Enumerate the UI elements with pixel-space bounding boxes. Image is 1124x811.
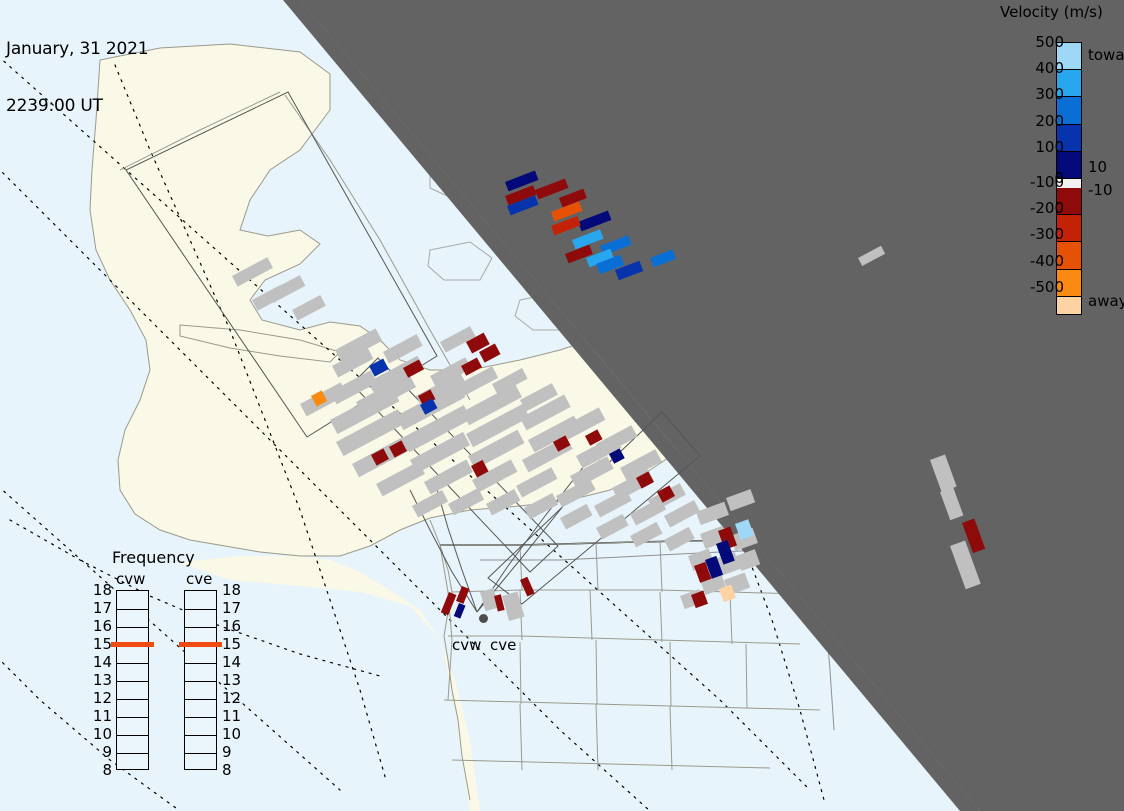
velocity-legend: Velocity (m/s) 5004003002001000-100-200-… [986, 0, 1124, 340]
frequency-cell-divider [185, 699, 216, 700]
frequency-bar-cvw[interactable] [116, 590, 149, 770]
frequency-tick-cve-16: 16 [222, 617, 241, 635]
velocity-tick--300: -300 [1030, 225, 1064, 243]
frequency-cell-divider [185, 735, 216, 736]
frequency-cell-divider [117, 627, 148, 628]
frequency-tick-cve-9: 9 [222, 743, 232, 761]
frequency-cell-divider [117, 717, 148, 718]
velocity-legend-title: Velocity (m/s) [1000, 3, 1103, 21]
frequency-tick-cvw-18: 18 [93, 581, 112, 599]
frequency-tick-cvw-15: 15 [93, 635, 112, 653]
frequency-tick-cvw-9: 9 [102, 743, 112, 761]
frequency-tick-cve-11: 11 [222, 707, 241, 725]
frequency-tick-cve-13: 13 [222, 671, 241, 689]
velocity-label-zero-upper: 10 [1088, 158, 1107, 176]
timestamp-time: 2239:00 UT [6, 97, 148, 116]
station-label-cvw: cvw [452, 636, 481, 654]
velocity-tick--400: -400 [1030, 252, 1064, 270]
frequency-cell-divider [117, 699, 148, 700]
frequency-tick-cvw-14: 14 [93, 653, 112, 671]
frequency-tick-cvw-10: 10 [93, 725, 112, 743]
frequency-cell-divider [185, 717, 216, 718]
frequency-marker-cve [179, 642, 222, 647]
frequency-tick-cve-12: 12 [222, 689, 241, 707]
velocity-tick--100: -100 [1030, 173, 1064, 191]
frequency-tick-cve-10: 10 [222, 725, 241, 743]
radar-velocity-map: cvwcve January, 31 2021 2239:00 UT Veloc… [0, 0, 1124, 811]
frequency-radar-name-cvw: cvw [116, 570, 145, 588]
velocity-tick-100: 100 [1035, 138, 1064, 156]
frequency-tick-cvw-12: 12 [93, 689, 112, 707]
velocity-label-away: away [1088, 292, 1124, 310]
frequency-cell-divider [117, 609, 148, 610]
station-label-cve: cve [490, 636, 516, 654]
frequency-tick-cve-18: 18 [222, 581, 241, 599]
frequency-tick-cve-15: 15 [222, 635, 241, 653]
frequency-tick-cvw-8: 8 [102, 761, 112, 779]
velocity-tick-400: 400 [1035, 59, 1064, 77]
timestamp: January, 31 2021 2239:00 UT [6, 2, 148, 154]
station-marker-cvw-cve-site[interactable] [479, 614, 488, 623]
frequency-tick-cvw-11: 11 [93, 707, 112, 725]
velocity-tick-500: 500 [1035, 33, 1064, 51]
frequency-tick-cve-8: 8 [222, 761, 232, 779]
frequency-cell-divider [117, 753, 148, 754]
velocity-tick-200: 200 [1035, 112, 1064, 130]
frequency-tick-cvw-16: 16 [93, 617, 112, 635]
velocity-tick-300: 300 [1035, 85, 1064, 103]
frequency-tick-cvw-13: 13 [93, 671, 112, 689]
frequency-tick-cvw-17: 17 [93, 599, 112, 617]
velocity-tick--200: -200 [1030, 199, 1064, 217]
frequency-cell-divider [185, 753, 216, 754]
frequency-cell-divider [117, 663, 148, 664]
frequency-tick-cve-17: 17 [222, 599, 241, 617]
frequency-cell-divider [185, 609, 216, 610]
velocity-tick--500: -500 [1030, 278, 1064, 296]
frequency-cell-divider [185, 627, 216, 628]
frequency-legend-title: Frequency [112, 548, 195, 567]
velocity-label-toward: toward [1088, 46, 1124, 64]
frequency-marker-cvw [111, 642, 154, 647]
frequency-cell-divider [117, 681, 148, 682]
frequency-cell-divider [117, 735, 148, 736]
frequency-bar-cve[interactable] [184, 590, 217, 770]
frequency-cell-divider [185, 663, 216, 664]
velocity-label-zero-lower: -10 [1088, 181, 1113, 199]
frequency-legend: Frequency cvw18171615141312111098cve1817… [96, 548, 246, 788]
colorbar-band [1057, 297, 1081, 315]
timestamp-date: January, 31 2021 [6, 40, 148, 59]
frequency-tick-cve-14: 14 [222, 653, 241, 671]
frequency-radar-name-cve: cve [186, 570, 212, 588]
frequency-cell-divider [185, 681, 216, 682]
